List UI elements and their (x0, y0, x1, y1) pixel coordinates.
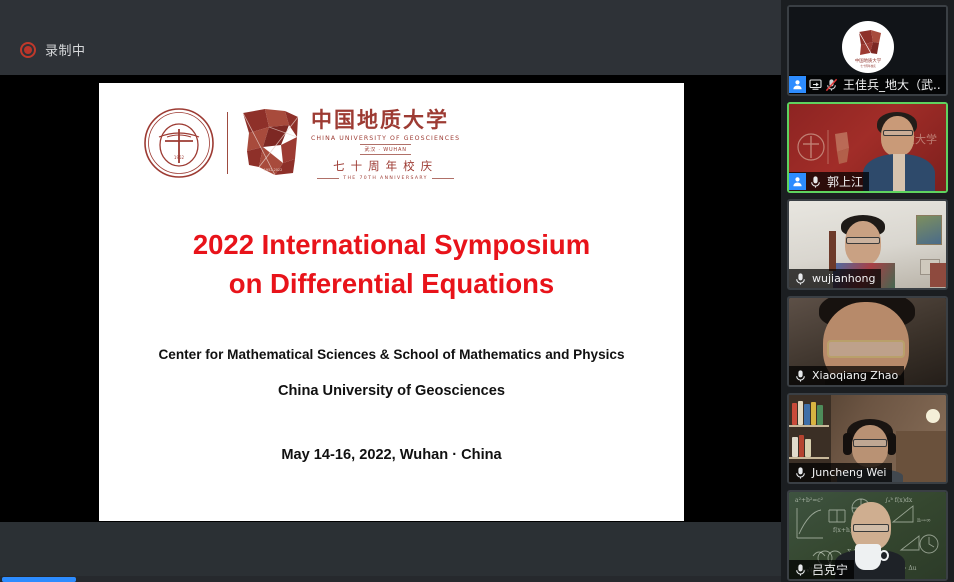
slide-subtitle-line1: Center for Mathematical Sciences & Schoo… (99, 347, 684, 362)
screen-share-icon (809, 78, 822, 91)
participant-tile[interactable]: 地质大学 郭上 (787, 102, 948, 193)
logo-city: 武汉 · WUHAN (311, 144, 460, 155)
participant-filmstrip[interactable]: 中国地质大学 七十周年校庆 (781, 0, 954, 582)
slide-title-line1: 2022 International Symposium (99, 225, 684, 264)
logo-anniversary-en: THE 70TH ANNIVERSARY (311, 176, 460, 181)
participant-name-bar: 郭上江 (789, 172, 869, 191)
seventy-anniversary-mark-icon: 1952-2022 (241, 107, 301, 179)
participant-tile[interactable]: Xiaoqiang Zhao (787, 296, 948, 387)
shared-slide[interactable]: 1952 (99, 83, 684, 521)
participant-name: 吕克宁 (810, 561, 848, 578)
slide-title: 2022 International Symposium on Differen… (99, 225, 684, 303)
participant-name: Juncheng Wei (810, 466, 886, 479)
participant-name: Xiaoqiang Zhao (810, 369, 898, 382)
svg-text:a²+b²=c²: a²+b²=c² (795, 497, 824, 504)
svg-text:n→∞: n→∞ (917, 517, 931, 524)
participant-name-bar: 王佳兵_地大（武... (789, 75, 946, 94)
meeting-top-bar: 录制中 (0, 0, 781, 75)
mic-on-icon (809, 175, 822, 189)
participant-tile[interactable]: a²+b²=c² f(x+h) ∫ₐᵇ f(x)dx n→∞ E=√(x²+y²… (787, 490, 948, 581)
mic-on-icon (789, 369, 807, 383)
participant-name: 郭上江 (825, 173, 863, 190)
svg-text:1952-2022: 1952-2022 (264, 168, 282, 172)
horizontal-scrollbar[interactable] (0, 576, 781, 582)
svg-text:中国地质大学: 中国地质大学 (854, 57, 881, 64)
mic-muted-icon (825, 78, 838, 92)
slide-title-line2: on Differential Equations (99, 264, 684, 303)
svg-text:∫ₐᵇ f(x)dx: ∫ₐᵇ f(x)dx (885, 497, 913, 504)
mic-on-icon (789, 563, 807, 577)
slide-date-line: May 14-16, 2022, Wuhan · China (99, 447, 684, 463)
participant-name: wujianhong (810, 272, 875, 285)
svg-text:f(x+h): f(x+h) (833, 527, 852, 534)
participant-name-bar: Juncheng Wei (789, 463, 892, 482)
participant-tile[interactable]: 中国地质大学 七十周年校庆 (787, 5, 948, 96)
scrollbar-thumb[interactable] (2, 577, 76, 582)
host-badge-icon (789, 76, 806, 93)
record-dot-icon (20, 42, 36, 58)
participant-tile[interactable]: wujianhong (787, 199, 948, 290)
screen-share-area: 录制中 1952 (0, 0, 781, 582)
participant-name-bar: wujianhong (789, 269, 881, 288)
university-logo-lockup: 1952 (143, 103, 460, 183)
participant-name-bar: Xiaoqiang Zhao (789, 366, 904, 385)
mic-on-icon (789, 466, 807, 480)
svg-text:1952: 1952 (174, 155, 185, 160)
participant-tile[interactable]: Juncheng Wei (787, 393, 948, 484)
slide-subtitle-line2: China University of Geosciences (99, 383, 684, 399)
logo-divider (227, 112, 228, 174)
recording-label: 录制中 (45, 40, 86, 59)
logo-university-name-en: CHINA UNIVERSITY OF GEOSCIENCES (311, 135, 460, 142)
host-badge-icon (789, 173, 806, 190)
svg-text:七十周年校庆: 七十周年校庆 (860, 64, 876, 68)
mic-on-icon (789, 272, 807, 286)
zoom-meeting-window: 录制中 1952 (0, 0, 954, 582)
logo-university-name-cn: 中国地质大学 (311, 109, 460, 131)
logo-anniversary-cn: 七十周年校庆 (311, 158, 460, 174)
participant-name-bar: 吕克宁 (789, 560, 854, 579)
university-seal-icon: 1952 (143, 107, 215, 179)
recording-indicator[interactable]: 录制中 (20, 40, 86, 59)
participant-name: 王佳兵_地大（武... (841, 76, 940, 93)
university-logo-avatar-icon: 中国地质大学 七十周年校庆 (842, 21, 894, 73)
